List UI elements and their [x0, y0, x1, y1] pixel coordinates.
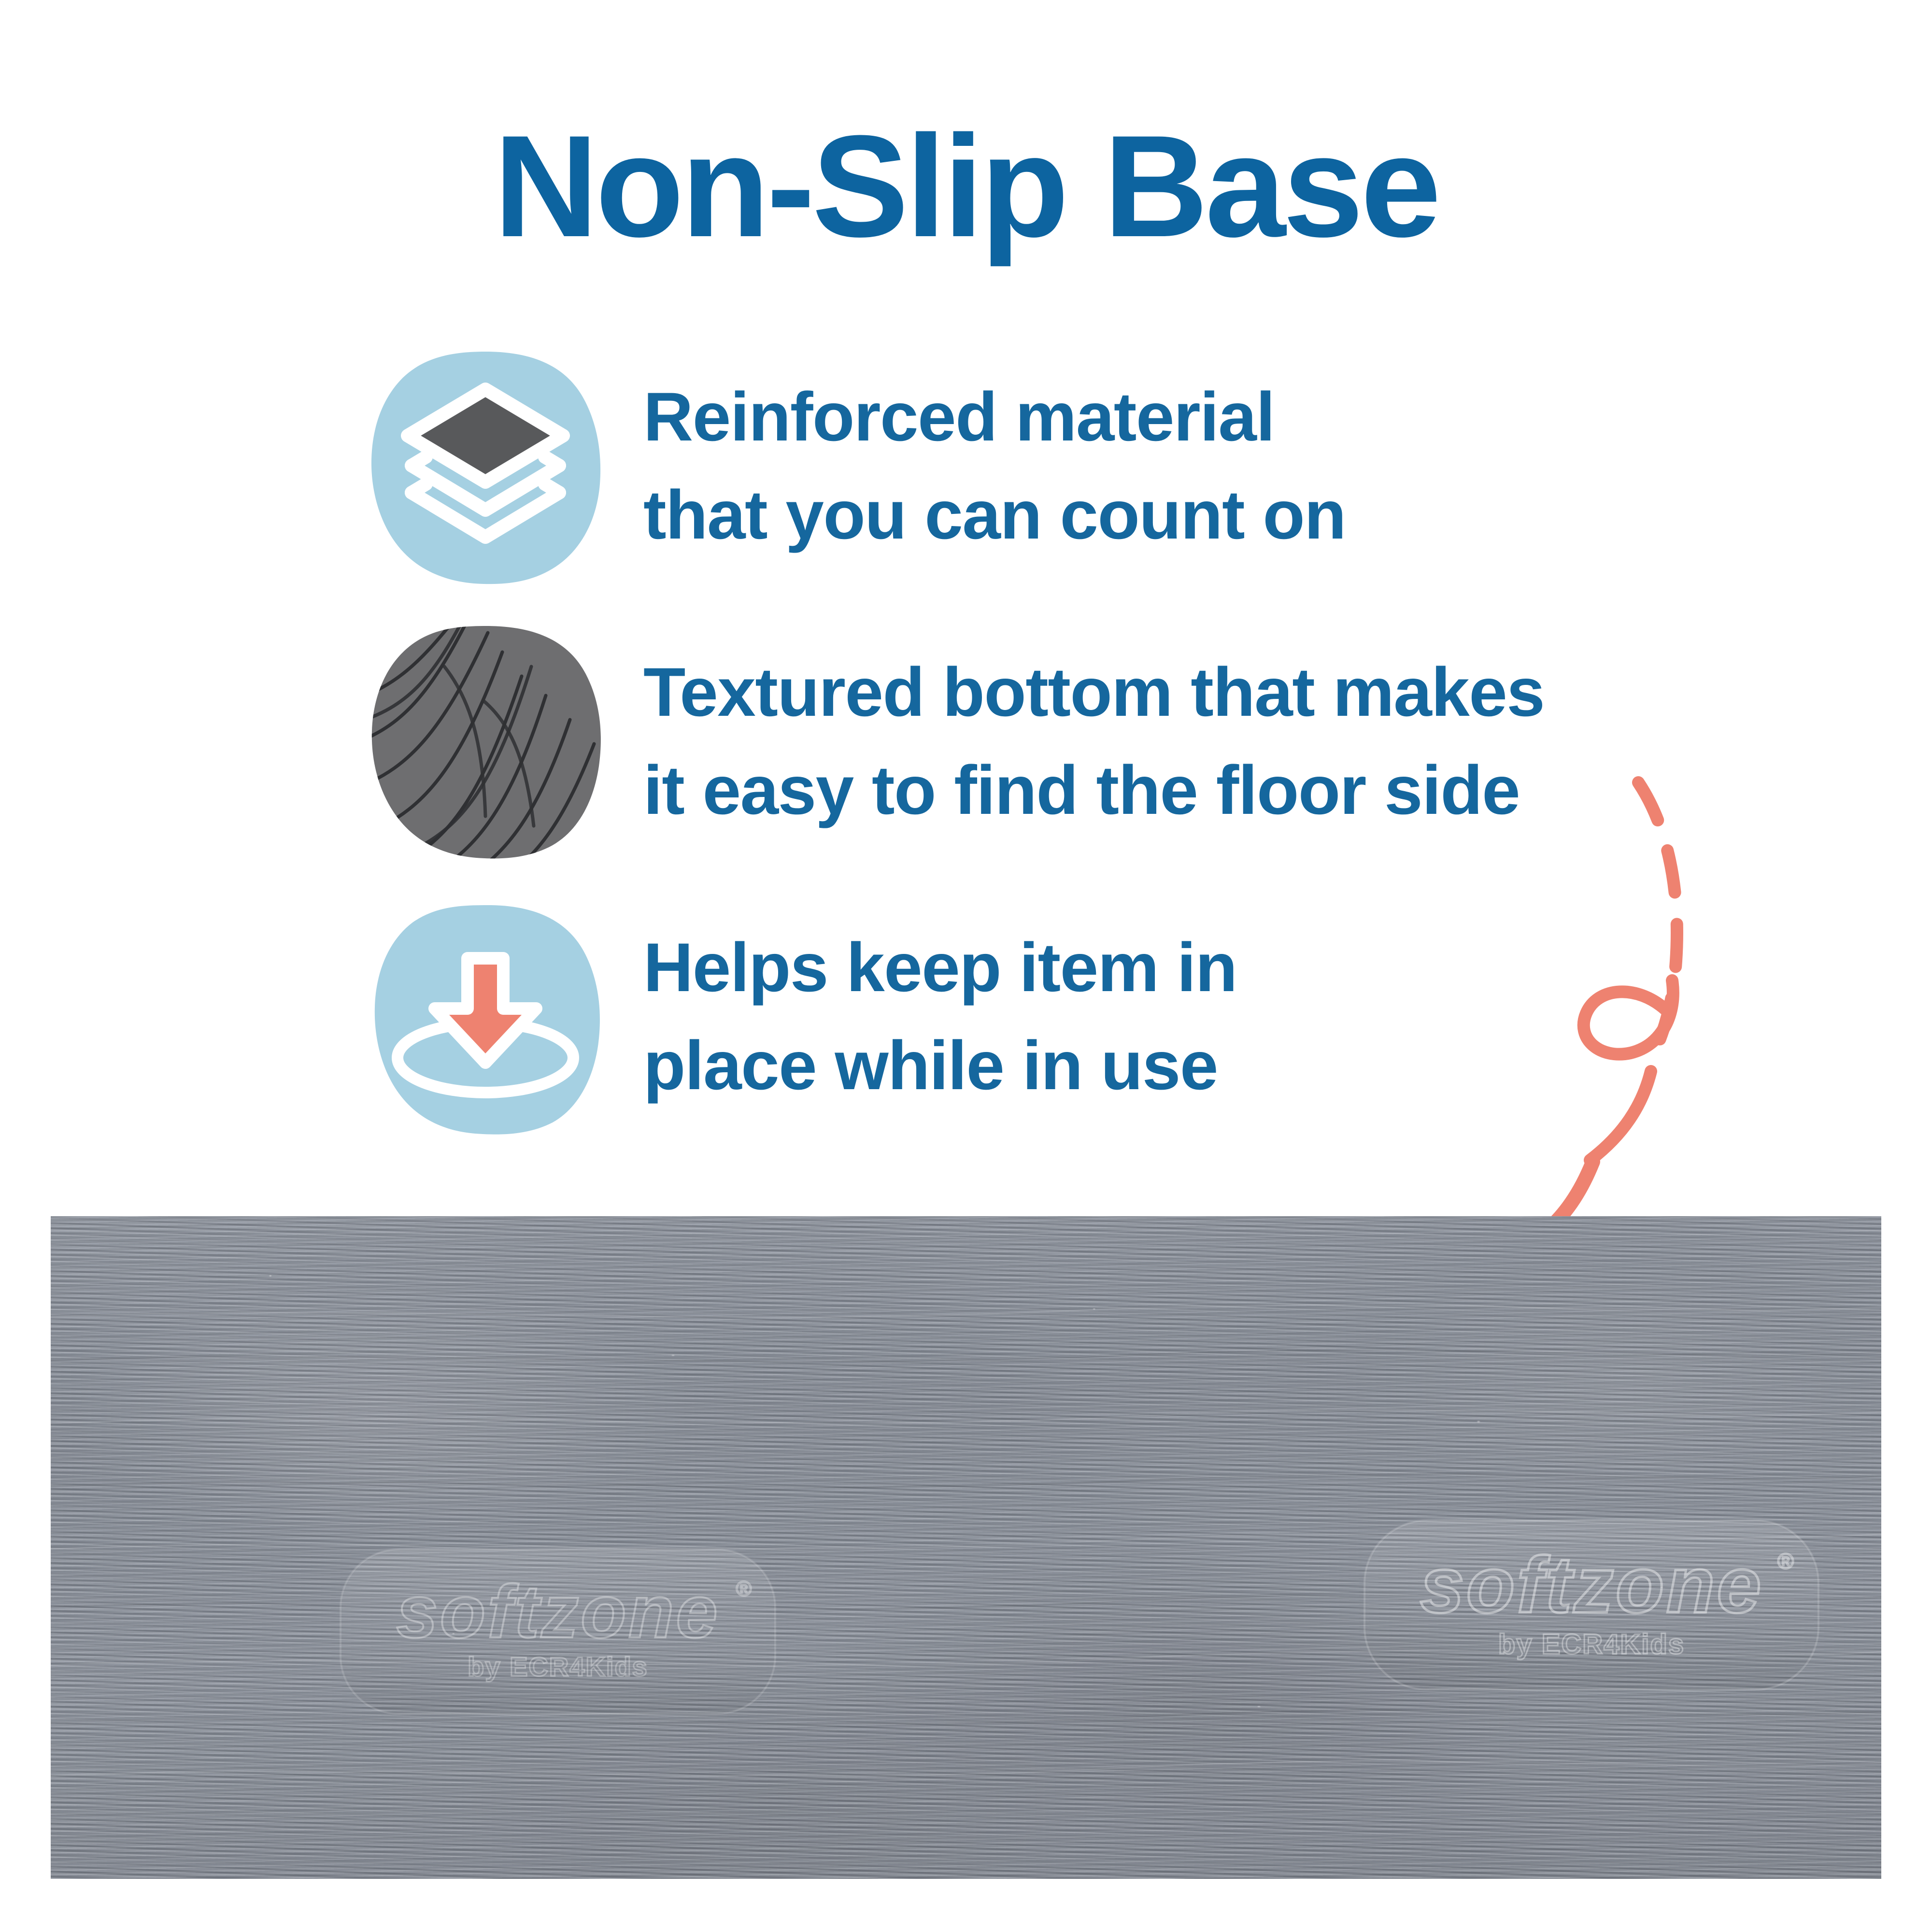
- svg-text:softzone: softzone: [1420, 1540, 1763, 1629]
- feature-text-reinforced-material: Reinforced material that you can count o…: [643, 368, 1346, 564]
- feature-line: Textured bottom that makes: [643, 643, 1544, 741]
- embossed-logo-left: softzone ® by ECR4Kids: [341, 1549, 775, 1714]
- svg-text:®: ®: [1777, 1548, 1794, 1574]
- svg-text:®: ®: [736, 1577, 752, 1601]
- downward-arrow-grip-icon: [367, 898, 604, 1135]
- layers-icon: [367, 348, 604, 584]
- feature-item-reinforced-material: Reinforced material that you can count o…: [367, 348, 1346, 584]
- textured-surface-icon: [367, 623, 604, 860]
- feature-text-keeps-in-place: Helps keep item in place while in use: [643, 919, 1237, 1115]
- svg-text:softzone: softzone: [396, 1570, 719, 1653]
- feature-item-keeps-in-place: Helps keep item in place while in use: [367, 898, 1237, 1135]
- feature-line: Reinforced material: [643, 368, 1346, 466]
- feature-line: Helps keep item in: [643, 919, 1237, 1017]
- embossed-logo-right: softzone ® by ECR4Kids: [1364, 1520, 1818, 1690]
- feature-line: place while in use: [643, 1017, 1237, 1115]
- page-title: Non-Slip Base: [0, 114, 1932, 258]
- feature-text-textured-bottom: Textured bottom that makes it easy to fi…: [643, 643, 1544, 839]
- feature-line: it easy to find the floor side: [643, 741, 1544, 839]
- svg-text:by ECR4Kids: by ECR4Kids: [468, 1651, 648, 1682]
- feature-line: that you can count on: [643, 466, 1346, 564]
- product-photo: softzone ® by ECR4Kids softzone ® by ECR…: [51, 1216, 1881, 1879]
- svg-text:by ECR4Kids: by ECR4Kids: [1498, 1629, 1685, 1660]
- feature-item-textured-bottom: Textured bottom that makes it easy to fi…: [367, 623, 1544, 860]
